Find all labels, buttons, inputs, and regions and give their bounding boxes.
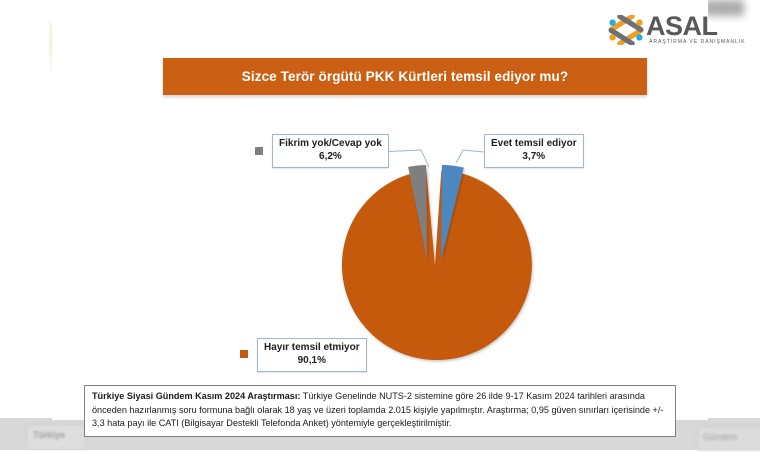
callout-no-opinion: Fikrim yok/Cevap yok 6,2% (272, 134, 389, 168)
pie-chart: Fikrim yok/Cevap yok 6,2% Evet temsil ed… (163, 110, 647, 375)
slide-stage: Türkiye Gündem ASAL ARAŞTIRMA VE DANIŞ (0, 0, 760, 450)
page-title: Sizce Terör örgütü PKK Kürtleri temsil e… (242, 69, 568, 84)
background-left-button-label: Türkiye (33, 430, 79, 442)
slide-canvas: ASAL ARAŞTIRMA VE DANIŞMANLIK Sizce Terö… (52, 0, 708, 420)
callout-no: Hayır temsil etmiyor 90,1% (257, 338, 367, 372)
asal-cross-dots-logo-icon (608, 15, 644, 45)
leader-line-yes (456, 150, 484, 163)
methodology-footnote: Türkiye Siyasi Gündem Kasım 2024 Araştır… (84, 385, 676, 437)
callout-no-opinion-percent: 6,2% (279, 151, 382, 164)
callout-yes-label: Evet temsil ediyor (491, 138, 577, 149)
asal-logo-wordmark: ASAL (646, 13, 718, 40)
legend-marker-no-opinion (255, 147, 263, 155)
asal-logo-tagline: ARAŞTIRMA VE DANIŞMANLIK (649, 39, 746, 45)
question-title-banner: Sizce Terör örgütü PKK Kürtleri temsil e… (163, 58, 647, 95)
asal-logo: ASAL ARAŞTIRMA VE DANIŞMANLIK (608, 13, 748, 49)
pie-slice-hayir-temsil-etmiyor (342, 170, 532, 360)
callout-no-opinion-label: Fikrim yok/Cevap yok (279, 138, 382, 149)
callout-no-label: Hayır temsil etmiyor (264, 342, 360, 353)
background-right-button-label: Gündem (703, 432, 755, 444)
legend-marker-no (240, 350, 248, 358)
callout-yes-percent: 3,7% (491, 151, 577, 164)
methodology-footnote-lead: Türkiye Siyasi Gündem Kasım 2024 Araştır… (92, 391, 300, 401)
callout-no-percent: 90,1% (264, 355, 360, 368)
callout-yes: Evet temsil ediyor 3,7% (484, 134, 584, 168)
